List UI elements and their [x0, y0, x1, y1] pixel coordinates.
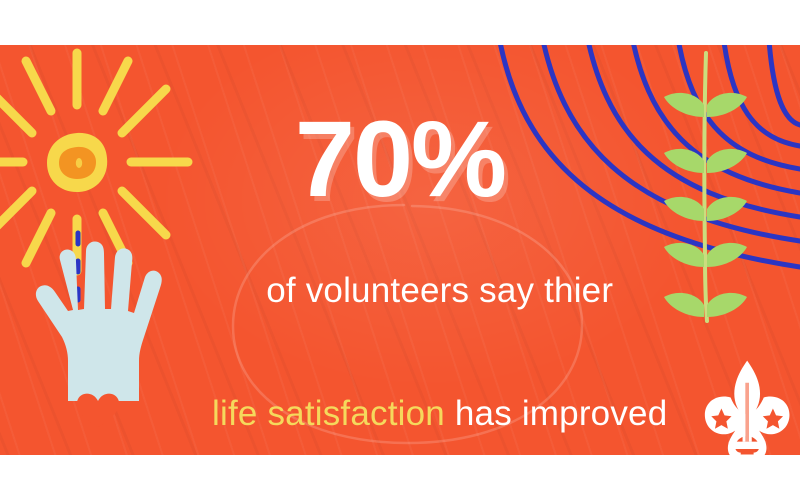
copy-line-1-text: of volunteers say thier: [266, 271, 613, 310]
copy-line-1: of volunteers say thier: [0, 230, 800, 353]
copy-line-2: life satisfaction has improved: [0, 353, 800, 455]
copy-line-2-text: has improved: [445, 394, 667, 433]
body-copy: of volunteers say thier life satisfactio…: [0, 230, 800, 455]
orange-panel: 70% of volunteers say thier life satisfa…: [0, 45, 800, 455]
statistic-headline: 70%: [0, 105, 800, 213]
copy-highlight-phrase: life satisfaction: [212, 394, 445, 433]
poster-canvas: 70% of volunteers say thier life satisfa…: [0, 0, 800, 500]
